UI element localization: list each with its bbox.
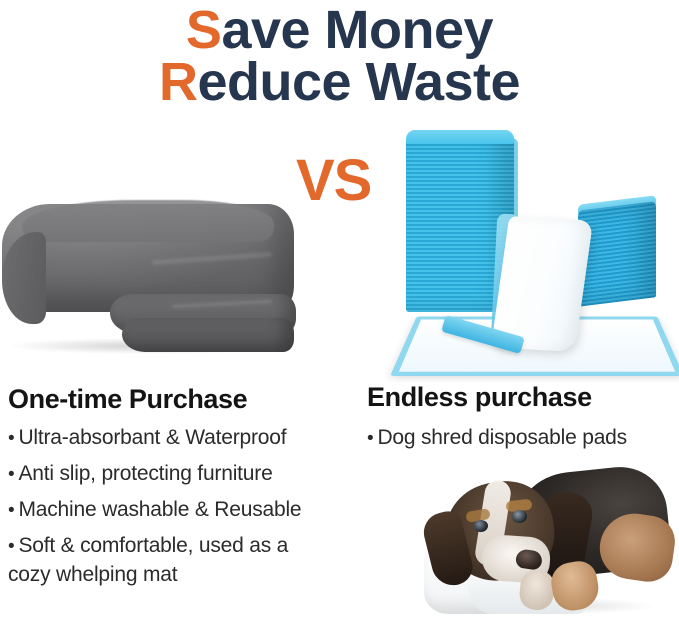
right-pad-stack <box>578 201 656 307</box>
blanket-fold-bottom <box>122 318 294 352</box>
gray-blanket-image <box>2 198 302 358</box>
headline-line-1-rest: ave Money <box>221 0 493 60</box>
tall-stack-top <box>406 130 514 144</box>
puppy-pads-image <box>382 130 674 370</box>
headline-line-2-rest: educe Waste <box>197 52 520 112</box>
list-item: Soft & comfortable, used as a cozy whelp… <box>8 532 358 590</box>
puppy-photo <box>424 458 676 616</box>
left-feature-list: Ultra-absorbant & Waterproof Anti slip, … <box>8 424 358 597</box>
poster-canvas: Save Money Reduce Waste VS One-time Purc… <box>0 0 679 619</box>
blanket-top-highlight <box>22 200 274 242</box>
page-title: Save Money Reduce Waste <box>0 0 679 110</box>
headline-line-2: Reduce Waste <box>0 54 679 110</box>
headline-accent-r: R <box>159 52 198 112</box>
right-column-heading: Endless purchase <box>367 382 592 413</box>
list-item: Ultra-absorbant & Waterproof <box>8 424 358 453</box>
list-item: Dog shred disposable pads <box>367 424 677 453</box>
headline-line-1: Save Money <box>0 2 679 58</box>
right-feature-list: Dog shred disposable pads <box>367 424 677 460</box>
list-item: Anti slip, protecting furniture <box>8 460 358 489</box>
list-item: Machine washable & Reusable <box>8 496 358 525</box>
headline-accent-s: S <box>186 0 222 60</box>
left-column-heading: One-time Purchase <box>8 384 247 415</box>
versus-label: VS <box>296 152 371 210</box>
